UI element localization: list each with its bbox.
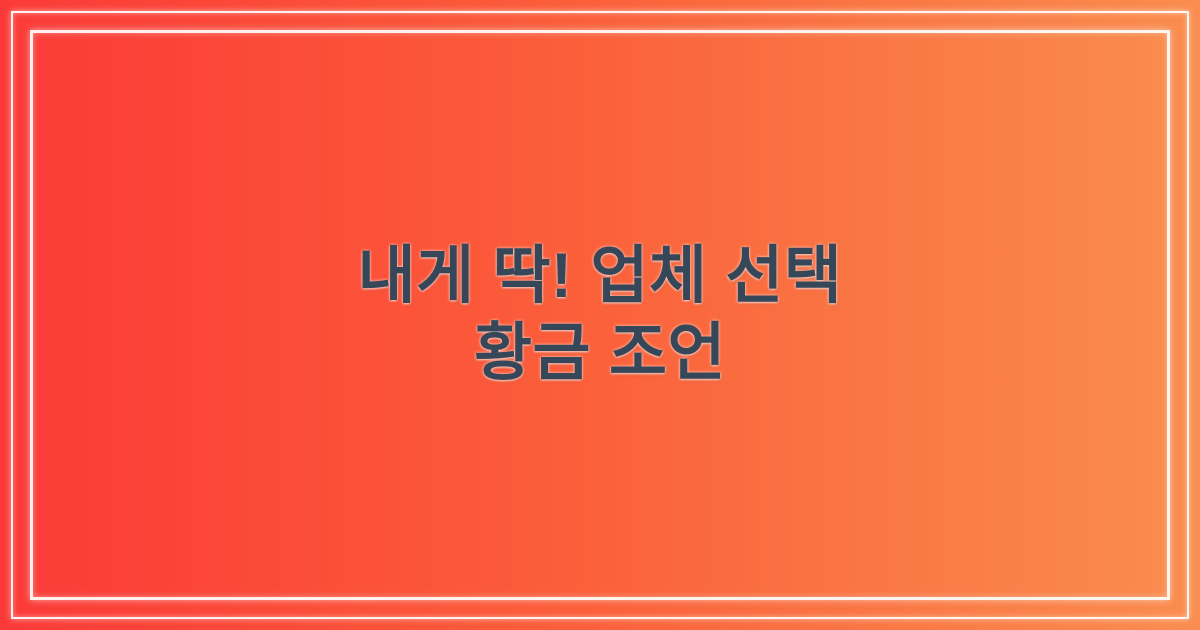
title-line-2: 황금 조언 [70,316,1130,391]
title-block: 내게 딱! 업체 선택 황금 조언 [0,0,1200,630]
title-line-1: 내게 딱! 업체 선택 [70,239,1130,314]
banner-card: 내게 딱! 업체 선택 황금 조언 [0,0,1200,630]
